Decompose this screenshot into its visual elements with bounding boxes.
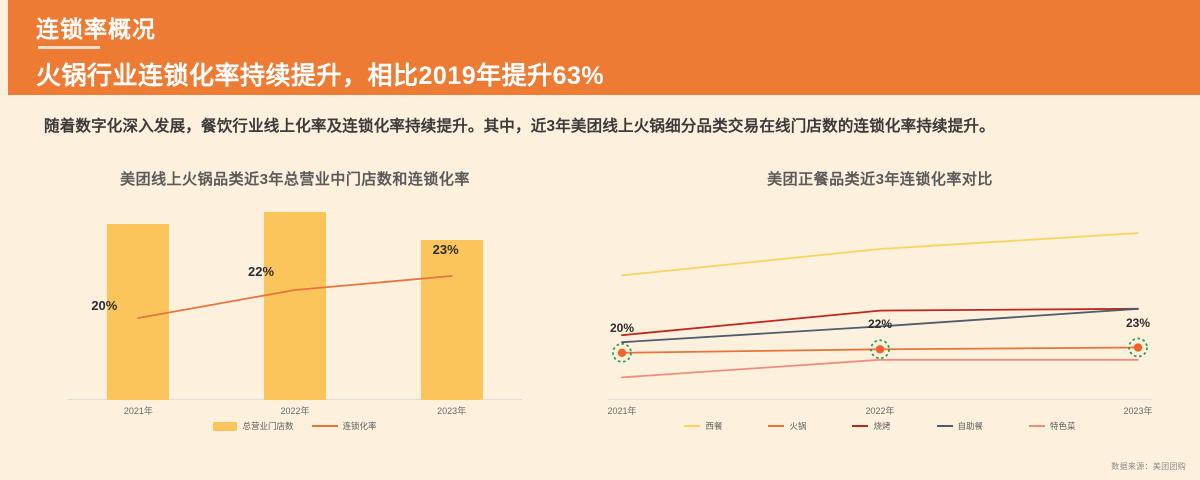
slide-page: 连锁率概况 火锅行业连锁化率持续提升，相比2019年提升63% 随着数字化深入发…: [0, 0, 1200, 480]
legend-swatch-icon: [213, 422, 237, 431]
legend-item-火锅[interactable]: 火锅: [768, 420, 806, 432]
legend-swatch-icon: [312, 425, 338, 427]
chart-right-title: 美团正餐品类近3年连锁化率对比: [600, 168, 1160, 189]
value-label-2023年: 23%: [1126, 316, 1150, 330]
x-label-2021年: 2021年: [124, 404, 153, 417]
chart-left-line-layer: [60, 200, 530, 400]
legend-item-连锁化率[interactable]: 连锁化率: [312, 420, 377, 432]
chart-left-bar-line: 美团线上火锅品类近3年总营业中门店数和连锁化率 20%22%23% 2021年2…: [60, 168, 530, 438]
legend-swatch-icon: [768, 425, 784, 427]
body-paragraph: 随着数字化深入发展，餐饮行业线上化率及连锁化率持续提升。其中，近3年美团线上火锅…: [44, 112, 1164, 142]
chart-left-title: 美团线上火锅品类近3年总营业中门店数和连锁化率: [60, 168, 530, 189]
chart-right-lines: 美团正餐品类近3年连锁化率对比 20%22%23% 2021年2022年2023…: [600, 168, 1160, 438]
legend-label: 总营业门店数: [242, 420, 293, 432]
legend-label: 特色菜: [1050, 420, 1076, 432]
marker-dot-icon: [1134, 343, 1142, 351]
legend-label: 烧烤: [873, 420, 890, 432]
legend-swatch-icon: [937, 425, 953, 427]
legend-label: 自助餐: [958, 420, 984, 432]
legend-label: 火锅: [789, 420, 806, 432]
chart-right-plot: 20%22%23%: [600, 200, 1160, 400]
value-label-2021年: 20%: [610, 321, 634, 335]
source-note: 数据来源：美团团购: [1111, 461, 1186, 472]
legend-swatch-icon: [1029, 425, 1045, 427]
line-连锁化率: [138, 276, 451, 318]
chart-right-legend: 西餐火锅烧烤自助餐特色菜: [600, 420, 1160, 432]
marker-dot-icon: [618, 349, 626, 357]
left-rail: [0, 0, 8, 480]
legend-swatch-icon: [852, 425, 868, 427]
value-label-2021年: 20%: [91, 298, 117, 313]
chart-left-legend: 总营业门店数连锁化率: [60, 420, 530, 432]
legend-item-特色菜[interactable]: 特色菜: [1029, 420, 1076, 432]
x-label-2022年: 2022年: [280, 404, 309, 417]
header-title: 火锅行业连锁化率持续提升，相比2019年提升63%: [36, 56, 604, 92]
legend-item-总营业门店数[interactable]: 总营业门店数: [213, 420, 293, 432]
marker-dot-icon: [876, 345, 884, 353]
chart-right-line-layer: [600, 200, 1160, 400]
header-divider: [38, 46, 100, 49]
value-label-2022年: 22%: [248, 264, 274, 279]
x-label-2022年: 2022年: [865, 404, 894, 417]
value-label-2023年: 23%: [433, 242, 459, 257]
legend-item-西餐[interactable]: 西餐: [684, 420, 722, 432]
legend-swatch-icon: [684, 425, 700, 427]
x-label-2023年: 2023年: [437, 404, 466, 417]
value-label-2022年: 22%: [868, 317, 892, 331]
line-特色菜: [622, 360, 1138, 378]
line-西餐: [622, 233, 1138, 275]
x-label-2023年: 2023年: [1123, 404, 1152, 417]
chart-left-plot: 20%22%23%: [60, 200, 530, 400]
header-kicker: 连锁率概况: [36, 10, 156, 44]
legend-item-自助餐[interactable]: 自助餐: [937, 420, 984, 432]
legend-label: 西餐: [705, 420, 722, 432]
x-label-2021年: 2021年: [607, 404, 636, 417]
legend-item-烧烤[interactable]: 烧烤: [852, 420, 890, 432]
legend-label: 连锁化率: [343, 420, 377, 432]
header-band: 连锁率概况 火锅行业连锁化率持续提升，相比2019年提升63%: [8, 0, 1200, 95]
